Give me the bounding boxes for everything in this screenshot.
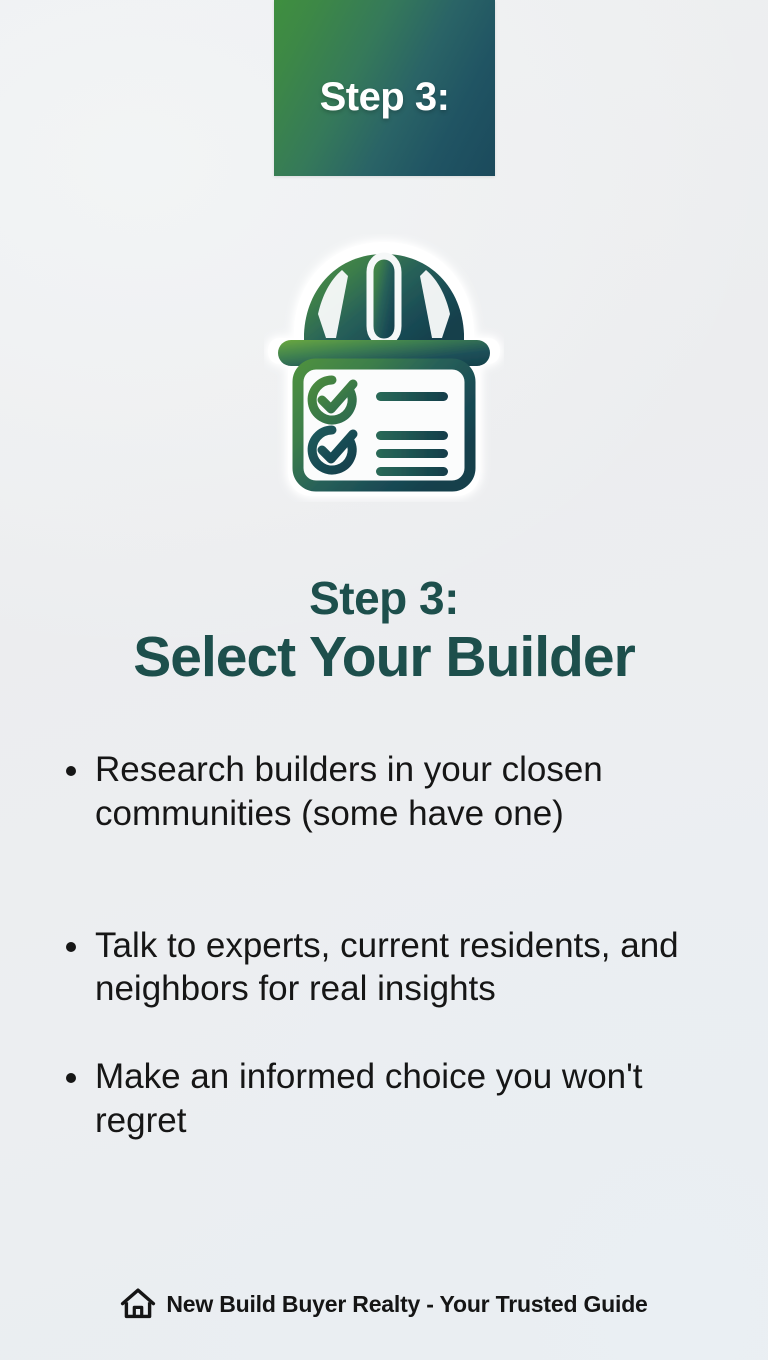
list-item-text: Make an informed choice you won't regret <box>95 1055 728 1143</box>
bullet-dot-icon <box>66 942 76 952</box>
page-title: Step 3: Select Your Builder <box>0 575 768 686</box>
list-item: Make an informed choice you won't regret <box>0 1055 768 1143</box>
slide-canvas: Step 3: <box>0 0 768 1360</box>
list-item: Talk to experts, current residents, and … <box>0 924 768 1012</box>
step-banner-label: Step 3: <box>320 75 450 120</box>
bullet-dot-icon <box>66 1073 76 1083</box>
bullet-spacer <box>0 836 768 924</box>
list-item: Research builders in your closen communi… <box>0 748 768 836</box>
page-title-line2: Select Your Builder <box>0 628 768 686</box>
bullet-spacer <box>0 1011 768 1055</box>
footer-text: New Build Buyer Realty - Your Trusted Gu… <box>166 1291 647 1318</box>
footer: New Build Buyer Realty - Your Trusted Gu… <box>0 1286 768 1322</box>
bullet-dot-icon <box>66 766 76 776</box>
hard-hat-checklist-icon <box>264 234 504 502</box>
page-title-line1: Step 3: <box>0 575 768 622</box>
list-item-text: Talk to experts, current residents, and … <box>95 924 728 1012</box>
list-item-text: Research builders in your closen communi… <box>95 748 728 836</box>
bullet-list: Research builders in your closen communi… <box>0 748 768 1143</box>
step-banner: Step 3: <box>274 0 495 176</box>
home-icon <box>120 1286 156 1322</box>
